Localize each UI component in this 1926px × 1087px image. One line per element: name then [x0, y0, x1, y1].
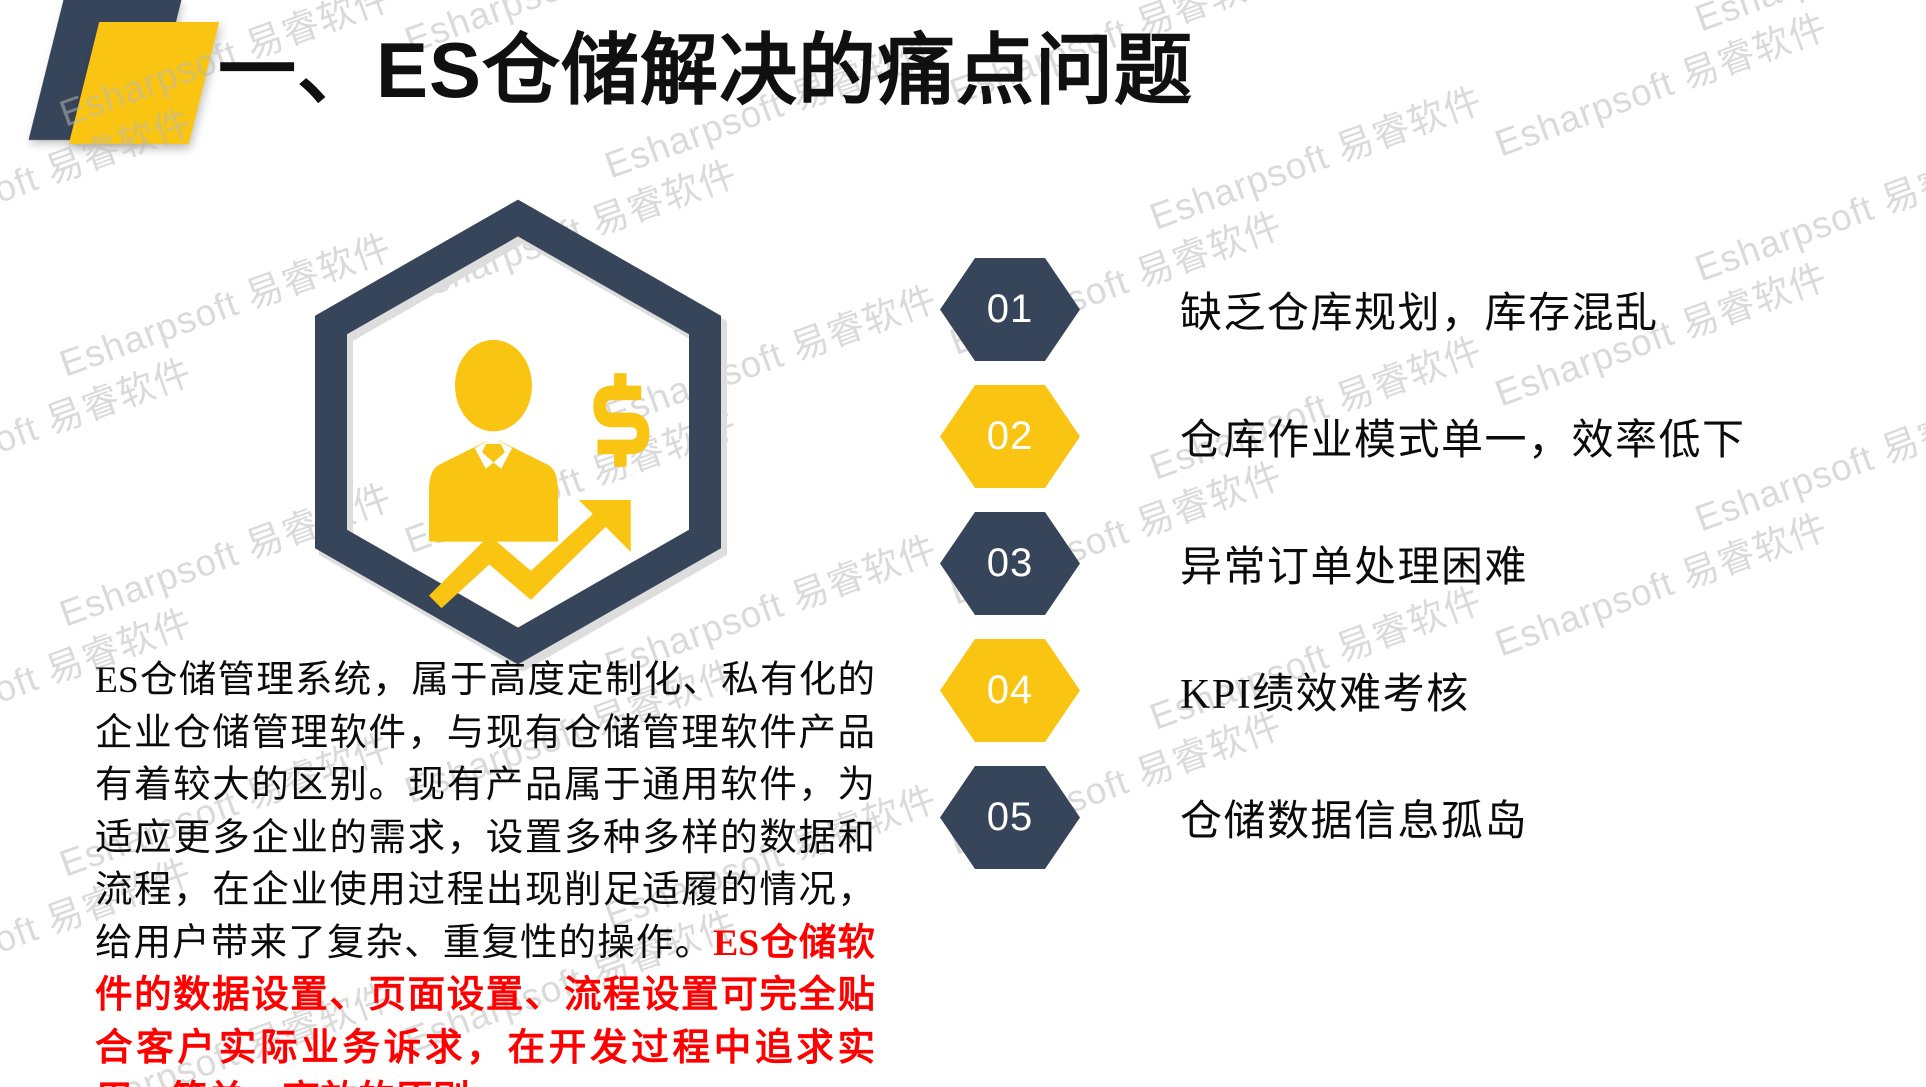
businessman-dollar-growth-icon: [429, 340, 649, 608]
list-item[interactable]: 02 仓库作业模式单一，效率低下: [940, 385, 1840, 488]
hexagon-badge: [325, 212, 711, 632]
issue-list: 01 缺乏仓库规划，库存混乱 02 仓库作业模式单一，效率低下 03 异常订单处…: [940, 258, 1840, 893]
list-item[interactable]: 03 异常订单处理困难: [940, 512, 1840, 615]
item-number: 02: [987, 414, 1034, 459]
item-number: 05: [987, 795, 1034, 840]
item-label: 缺乏仓库规划，库存混乱: [1180, 279, 1659, 340]
item-label: KPI绩效难考核: [1180, 660, 1470, 721]
page-title: 一、ES仓储解决的痛点问题: [218, 28, 1193, 114]
watermark-text: Esharpsoft 易睿软件Esharpsoft 易睿软件Esharpsoft…: [0, 0, 1926, 12]
hexagon-number-badge: 01: [940, 258, 1080, 361]
presentation-slide: 一、ES仓储解决的痛点问题: [0, 0, 1926, 1087]
list-item[interactable]: 01 缺乏仓库规划，库存混乱: [940, 258, 1840, 361]
item-number: 01: [987, 287, 1034, 332]
hexagon-number-badge: 03: [940, 512, 1080, 615]
hexagon-number-badge: 02: [940, 385, 1080, 488]
item-label: 仓储数据信息孤岛: [1180, 787, 1528, 848]
item-label: 仓库作业模式单一，效率低下: [1180, 406, 1746, 467]
hexagon-number-badge: 04: [940, 639, 1080, 742]
hexagon-number-badge: 05: [940, 766, 1080, 869]
list-item[interactable]: 05 仓储数据信息孤岛: [940, 766, 1840, 869]
list-item[interactable]: 04 KPI绩效难考核: [940, 639, 1840, 742]
item-number: 03: [987, 541, 1034, 586]
item-number: 04: [987, 668, 1034, 713]
intro-paragraph: ES仓储管理系统，属于高度定制化、私有化的企业仓储管理软件，与现有仓储管理软件产…: [95, 655, 875, 1087]
item-label: 异常订单处理困难: [1180, 533, 1528, 594]
paragraph-plain-text: ES仓储管理系统，属于高度定制化、私有化的企业仓储管理软件，与现有仓储管理软件产…: [95, 660, 875, 964]
